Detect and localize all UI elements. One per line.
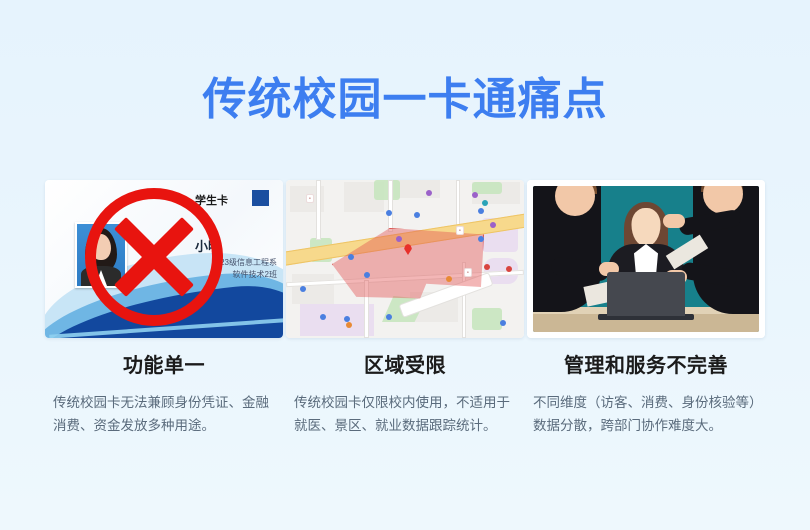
map-poi-marker — [396, 236, 402, 242]
map-poi-marker — [482, 200, 488, 206]
card-image-illustration — [527, 180, 765, 338]
map-purple-area — [300, 304, 374, 336]
card-description: 传统校园卡仅限校内使用，不适用于就医、景区、就业数据跟踪统计。 — [286, 391, 524, 437]
map-poi-marker — [300, 286, 306, 292]
id-card-meta: 23级信息工程系 软件技术2班 — [167, 257, 277, 281]
map-block — [292, 274, 334, 304]
map-poi-marker — [472, 192, 478, 198]
map-poi-marker — [320, 314, 326, 320]
pain-point-card-area-limited: ● ● ● 区域受限 传统校园卡仅限校内使用，不适用于就医、景区、就业数据跟踪统… — [286, 180, 524, 437]
id-card-title: 学生卡 — [195, 192, 228, 208]
illustration-scene — [533, 186, 759, 332]
map-poi-marker — [478, 208, 484, 214]
map-poi-marker — [484, 264, 490, 270]
map-road — [456, 180, 460, 226]
map-road — [316, 180, 321, 240]
map-poi-marker — [500, 320, 506, 326]
map-green-area — [472, 308, 502, 330]
map-poi-marker — [346, 322, 352, 328]
map-poi-marker — [386, 314, 392, 320]
card-heading: 功能单一 — [45, 354, 283, 378]
student-photo — [75, 222, 127, 288]
map-poi-marker — [446, 276, 452, 282]
page-title: 传统校园一卡通痛点 — [0, 78, 810, 122]
student-id-card-graphic: 学生卡 小明 23级信息工程系 软件技术2班 — [45, 180, 283, 338]
map-poi-tag: ● — [456, 226, 464, 235]
right-person-pointing-hand — [663, 214, 685, 228]
map-poi-marker — [348, 254, 354, 260]
id-card-meta-line-2: 软件技术2班 — [167, 269, 277, 281]
map-poi-marker — [426, 190, 432, 196]
map-green-area — [374, 180, 400, 200]
office-staff-illustration — [527, 180, 765, 338]
id-card-name: 小明 — [195, 236, 221, 255]
card-heading: 区域受限 — [286, 354, 524, 378]
card-image-map: ● ● ● — [286, 180, 524, 338]
map-poi-marker — [478, 236, 484, 242]
map-poi-marker — [414, 212, 420, 218]
map-road — [388, 180, 393, 232]
map-block — [394, 180, 440, 198]
card-image-student-id: 学生卡 小明 23级信息工程系 软件技术2班 — [45, 180, 283, 338]
card-description: 不同维度（访客、消费、身份核验等）数据分散，跨部门协作难度大。 — [527, 391, 765, 437]
map-poi-tag: ● — [464, 268, 472, 277]
pain-point-card-management-service: 管理和服务不完善 不同维度（访客、消费、身份核验等）数据分散，跨部门协作难度大。 — [527, 180, 765, 437]
map-poi-tag: ● — [306, 194, 314, 203]
pain-point-card-single-function: 学生卡 小明 23级信息工程系 软件技术2班 功能单一 传统校园卡无法兼顾身份凭… — [45, 180, 283, 437]
center-person-face — [632, 208, 661, 246]
slide-root: 传统校园一卡通痛点 学生卡 小明 — [0, 0, 810, 530]
card-description: 传统校园卡无法兼顾身份凭证、金融消费、资金发放多种用途。 — [45, 391, 283, 437]
photo-face — [91, 234, 111, 260]
id-card-chip — [252, 190, 269, 206]
laptop-screen — [607, 272, 685, 316]
card-heading: 管理和服务不完善 — [527, 354, 765, 378]
map-poi-marker — [506, 266, 512, 272]
map-graphic: ● ● ● — [286, 180, 524, 338]
map-poi-marker — [364, 272, 370, 278]
pain-point-columns: 学生卡 小明 23级信息工程系 软件技术2班 功能单一 传统校园卡无法兼顾身份凭… — [45, 180, 765, 437]
map-poi-marker — [386, 210, 392, 216]
map-poi-marker — [490, 222, 496, 228]
id-card-meta-line-1: 23级信息工程系 — [167, 257, 277, 269]
